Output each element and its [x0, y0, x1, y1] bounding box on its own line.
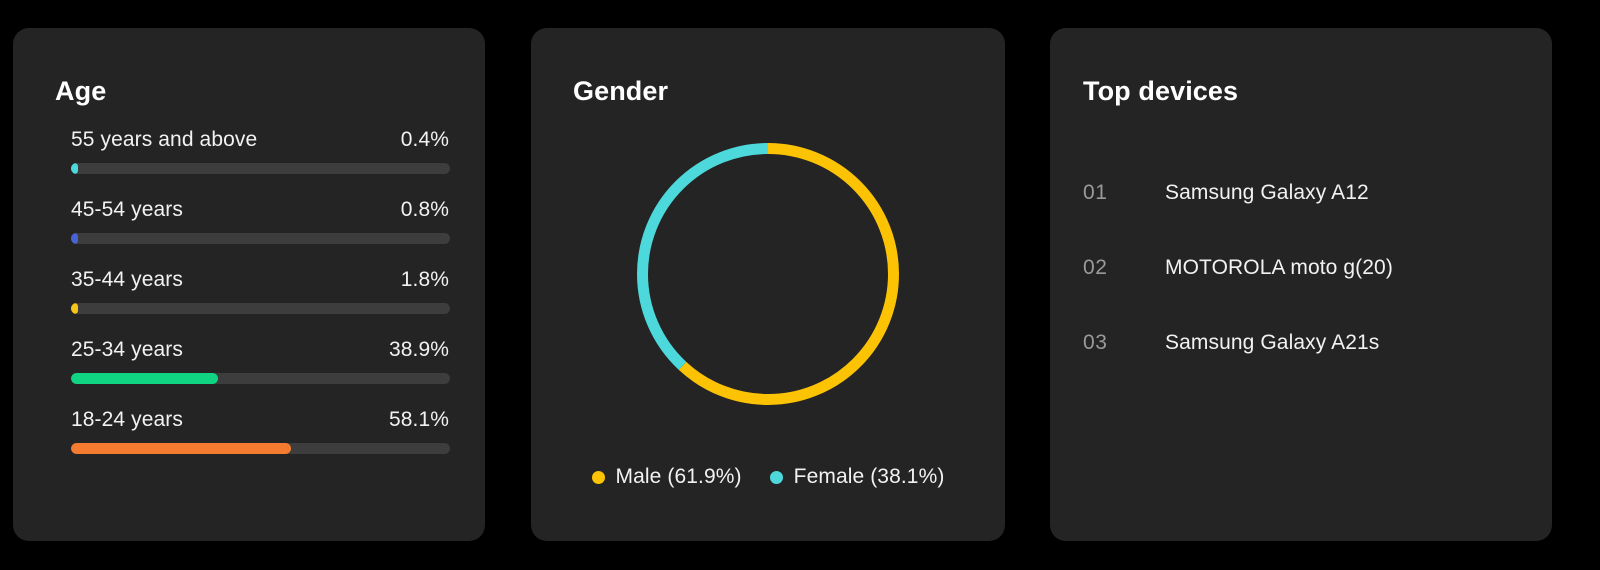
- top-devices-card-title: Top devices: [1083, 78, 1238, 105]
- age-row-label: 25-34 years: [71, 338, 183, 362]
- age-card: Age 55 years and above0.4%45-54 years0.8…: [13, 28, 485, 541]
- gender-donut-chart: [531, 134, 1005, 434]
- age-progress-track: [71, 163, 450, 174]
- age-row: 55 years and above0.4%: [71, 128, 449, 174]
- device-rank: 03: [1083, 331, 1165, 355]
- age-progress-fill: [71, 373, 218, 384]
- gender-legend: Male (61.9%)Female (38.1%): [531, 465, 1005, 489]
- age-row: 25-34 years38.9%: [71, 338, 449, 384]
- age-progress-track: [71, 233, 450, 244]
- demographics-dashboard: Age 55 years and above0.4%45-54 years0.8…: [0, 0, 1600, 570]
- age-row-value: 38.9%: [389, 338, 449, 362]
- gender-card-title: Gender: [573, 78, 668, 105]
- age-row-value: 0.4%: [401, 128, 449, 152]
- age-row-label: 18-24 years: [71, 408, 183, 432]
- age-card-title: Age: [55, 78, 106, 105]
- age-row: 35-44 years1.8%: [71, 268, 449, 314]
- age-progress-track: [71, 443, 450, 454]
- age-row-header: 18-24 years58.1%: [71, 408, 449, 432]
- device-name: MOTOROLA moto g(20): [1165, 256, 1393, 280]
- gender-card: Gender Male (61.9%)Female (38.1%): [531, 28, 1005, 541]
- device-list-item[interactable]: 02MOTOROLA moto g(20): [1083, 230, 1522, 305]
- age-bar-list: 55 years and above0.4%45-54 years0.8%35-…: [71, 128, 449, 454]
- age-row-label: 45-54 years: [71, 198, 183, 222]
- device-list-item[interactable]: 01Samsung Galaxy A12: [1083, 155, 1522, 230]
- age-progress-fill: [71, 443, 291, 454]
- legend-dot-icon: [770, 471, 783, 484]
- age-row: 45-54 years0.8%: [71, 198, 449, 244]
- age-row-label: 55 years and above: [71, 128, 257, 152]
- device-rank: 02: [1083, 256, 1165, 280]
- age-progress-fill: [71, 303, 78, 314]
- top-devices-list: 01Samsung Galaxy A1202MOTOROLA moto g(20…: [1083, 155, 1522, 380]
- legend-item[interactable]: Male (61.9%): [592, 465, 742, 489]
- legend-item[interactable]: Female (38.1%): [770, 465, 945, 489]
- age-row-header: 55 years and above0.4%: [71, 128, 449, 152]
- age-row-value: 1.8%: [401, 268, 449, 292]
- device-name: Samsung Galaxy A21s: [1165, 331, 1379, 355]
- age-progress-fill: [71, 163, 78, 174]
- age-row-value: 58.1%: [389, 408, 449, 432]
- legend-label: Female (38.1%): [794, 465, 945, 489]
- device-rank: 01: [1083, 181, 1165, 205]
- age-row-header: 35-44 years1.8%: [71, 268, 449, 292]
- age-row-label: 35-44 years: [71, 268, 183, 292]
- legend-dot-icon: [592, 471, 605, 484]
- device-name: Samsung Galaxy A12: [1165, 181, 1369, 205]
- device-list-item[interactable]: 03Samsung Galaxy A21s: [1083, 305, 1522, 380]
- age-row-header: 25-34 years38.9%: [71, 338, 449, 362]
- age-progress-track: [71, 373, 450, 384]
- age-row-header: 45-54 years0.8%: [71, 198, 449, 222]
- age-row-value: 0.8%: [401, 198, 449, 222]
- age-progress-track: [71, 303, 450, 314]
- legend-label: Male (61.9%): [616, 465, 742, 489]
- donut-svg: [628, 134, 908, 414]
- age-progress-fill: [71, 233, 78, 244]
- age-row: 18-24 years58.1%: [71, 408, 449, 454]
- top-devices-card: Top devices 01Samsung Galaxy A1202MOTORO…: [1050, 28, 1552, 541]
